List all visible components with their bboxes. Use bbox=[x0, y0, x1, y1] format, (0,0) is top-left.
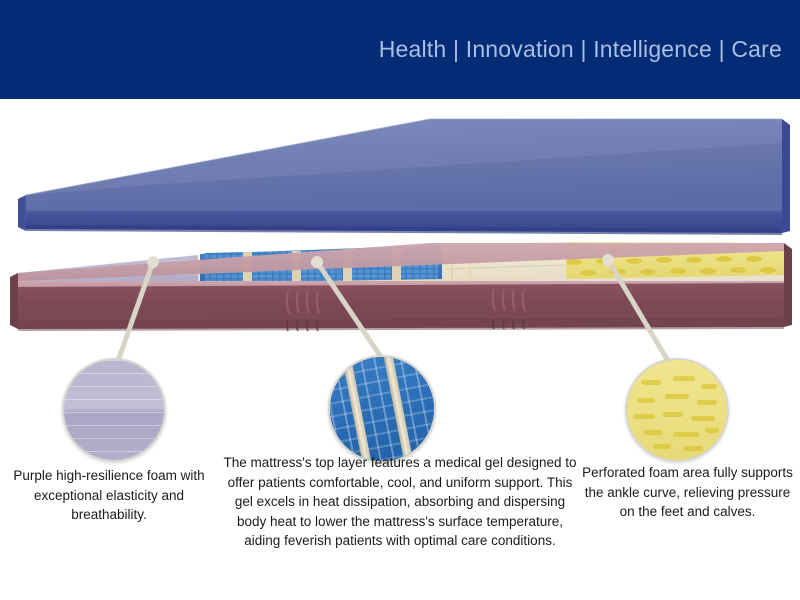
purple-foam-stripes bbox=[64, 360, 164, 460]
perforated-foam-caption: Perforated foam area fully supports the … bbox=[580, 463, 795, 522]
gel-layer-caption: The mattress's top layer features a medi… bbox=[222, 453, 578, 551]
cover-layer bbox=[18, 119, 790, 235]
purple-foam-callout-swatch[interactable] bbox=[62, 358, 166, 462]
perforated-foam-dashes bbox=[627, 360, 727, 460]
gel-layer-callout-swatch[interactable] bbox=[328, 355, 436, 463]
poster-stage: Health | Innovation | Intelligence | Car… bbox=[0, 0, 800, 600]
page-title: Health | Innovation | Intelligence | Car… bbox=[379, 34, 782, 64]
purple-foam-caption: Purple high-resilience foam with excepti… bbox=[0, 466, 218, 525]
core-layer bbox=[10, 242, 792, 331]
perforated-foam-callout-swatch[interactable] bbox=[625, 358, 729, 462]
